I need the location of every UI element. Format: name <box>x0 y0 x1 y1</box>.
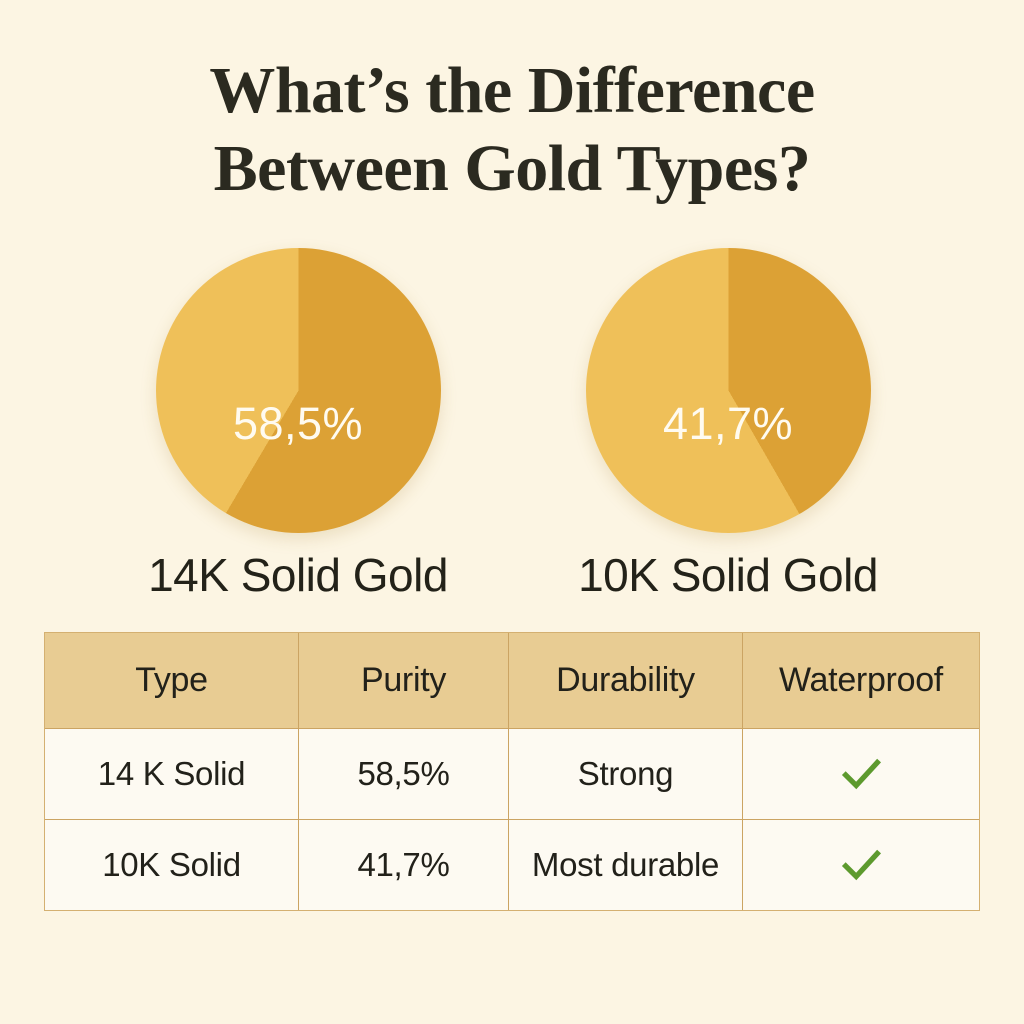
cell-durability: Strong <box>509 729 743 819</box>
pie-chart-14k-group: 58,5% 14K Solid Gold <box>148 248 448 538</box>
pie-chart-14k-value: 58,5% <box>156 398 441 450</box>
table-header-row: Type Purity Durability Waterproof <box>45 633 979 728</box>
pie-chart-section: 58,5% 14K Solid Gold 41,7% 10K Solid Gol… <box>0 248 1024 538</box>
table-row: 14 K Solid 58,5% Strong <box>45 728 979 819</box>
cell-purity: 41,7% <box>299 820 509 910</box>
pie-chart-10k: 41,7% <box>586 248 871 533</box>
check-icon <box>838 842 884 888</box>
pie-chart-10k-group: 41,7% 10K Solid Gold <box>578 248 878 538</box>
table-header-type: Type <box>45 633 299 728</box>
title-line-1: What’s the Difference <box>0 52 1024 130</box>
pie-chart-14k: 58,5% <box>156 248 441 533</box>
table-header-waterproof: Waterproof <box>743 633 979 728</box>
check-icon <box>838 751 884 797</box>
table-header-durability: Durability <box>509 633 743 728</box>
cell-type: 14 K Solid <box>45 729 299 819</box>
cell-durability: Most durable <box>509 820 743 910</box>
cell-type: 10K Solid <box>45 820 299 910</box>
cell-purity: 58,5% <box>299 729 509 819</box>
page-title: What’s the Difference Between Gold Types… <box>0 52 1024 208</box>
table-row: 10K Solid 41,7% Most durable <box>45 819 979 910</box>
cell-waterproof <box>743 820 979 910</box>
pie-chart-10k-value: 41,7% <box>586 398 871 450</box>
table-header-purity: Purity <box>299 633 509 728</box>
comparison-table: Type Purity Durability Waterproof 14 K S… <box>44 632 980 911</box>
pie-chart-10k-caption: 10K Solid Gold <box>518 548 938 602</box>
pie-chart-14k-caption: 14K Solid Gold <box>88 548 508 602</box>
title-line-2: Between Gold Types? <box>0 130 1024 208</box>
cell-waterproof <box>743 729 979 819</box>
